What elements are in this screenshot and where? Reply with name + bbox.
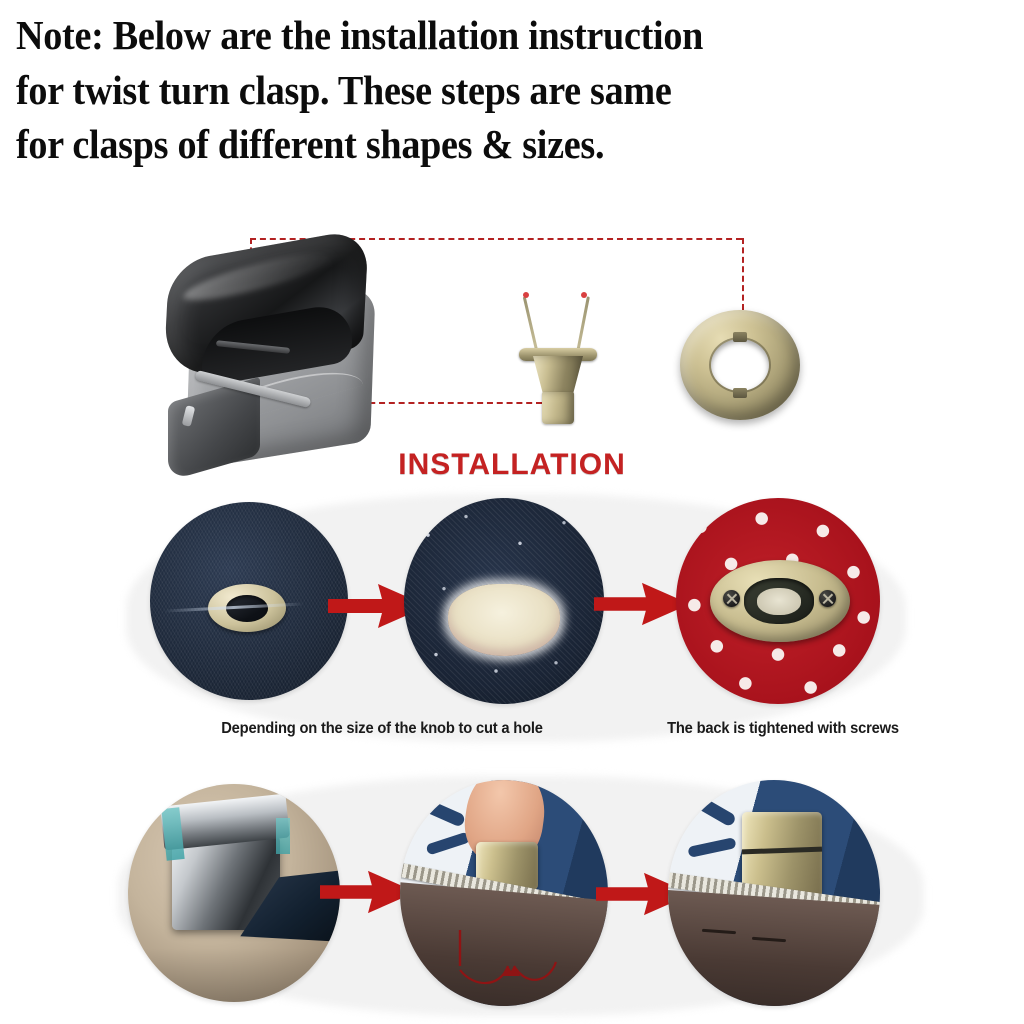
step-4-image: [128, 784, 340, 1002]
fabric-swirl-2: [425, 831, 470, 855]
ring-notch-bottom: [733, 388, 747, 398]
step-2-caption: Depending on the size of the knob to cut…: [164, 720, 601, 738]
step-2-image: [404, 498, 604, 704]
brass-ring-washer: [680, 310, 800, 420]
clasp-prong-left: [523, 296, 539, 351]
red-annotation-arrows: [452, 926, 570, 995]
clasp-teal-tint-right: [276, 818, 290, 854]
backplate-slot: [744, 578, 814, 624]
step-1-image: [150, 502, 348, 700]
clasp-prong-left-tip: [523, 292, 529, 298]
bag-illustration: [160, 240, 390, 465]
cut-hole: [448, 584, 560, 656]
page-title: Note: Below are the installation instruc…: [16, 8, 946, 172]
step-6-image: [668, 780, 880, 1006]
leather-panel: [668, 890, 880, 1006]
clasp-prong-right-tip: [581, 292, 587, 298]
ring-notch-top: [733, 332, 747, 342]
step-3-image: [676, 498, 880, 704]
note-line-1: Note: Below are the installation instruc…: [16, 8, 946, 63]
backplate-screw-left: [723, 590, 740, 607]
step-3-caption: The back is tightened with screws: [626, 720, 940, 738]
note-line-2: for twist turn clasp. These steps are sa…: [16, 63, 946, 118]
infographic-page: Note: Below are the installation instruc…: [0, 0, 1024, 1024]
clasp-stem: [542, 392, 574, 424]
leader-line-ring-vertical: [742, 238, 744, 310]
steps-row-1: Depending on the size of the knob to cut…: [0, 492, 1024, 762]
clasp-knob-part: [515, 290, 601, 420]
backplate-screw-right: [819, 590, 836, 607]
step-5-image: [400, 780, 608, 1006]
ring-center-hole: [711, 339, 769, 391]
fabric-swirl-4: [687, 837, 736, 858]
steps-row-2: [0, 772, 1024, 1024]
note-line-3: for clasps of different shapes & sizes.: [16, 117, 946, 172]
installation-label: INSTALLATION: [0, 448, 1024, 482]
leather-shadow: [128, 948, 340, 1002]
